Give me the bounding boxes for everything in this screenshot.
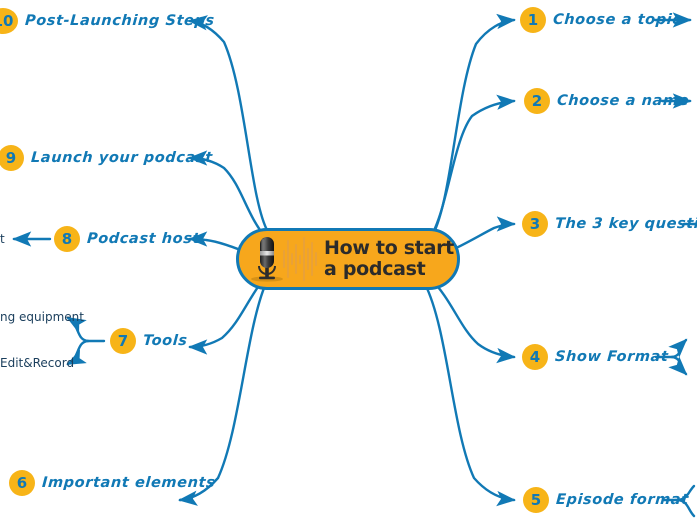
center-title: How to start a podcast (324, 238, 454, 280)
branch-10-badge: 10 (0, 8, 18, 34)
branch-2-badge: 2 (524, 88, 550, 114)
curve-to-branch-7 (190, 277, 265, 347)
branch-8-badge: 8 (54, 226, 80, 252)
branch-3[interactable]: 3 The 3 key questions (522, 211, 697, 237)
branch-7-badge: 7 (110, 328, 136, 354)
branch-1-badge: 1 (520, 7, 546, 33)
branch-6[interactable]: 6 Important elements (9, 470, 215, 496)
branch-5-label: Episode format (555, 492, 689, 508)
center-title-line-1: How to start (324, 238, 454, 259)
sub-item-edit-record[interactable]: Edit&Record (0, 356, 74, 370)
branch-3-label: The 3 key questions (554, 216, 697, 232)
branch-6-label: Important elements (41, 475, 215, 491)
branch-7[interactable]: 7 Tools (110, 328, 188, 354)
curve-to-branch-6 (180, 283, 266, 500)
branch-4[interactable]: 4 Show Format (522, 344, 669, 370)
branch-1-label: Choose a topic (552, 12, 682, 28)
branch-2-label: Choose a name (556, 93, 689, 109)
branch-9-badge: 9 (0, 145, 24, 171)
mindmap-canvas: How to start a podcast 1 Choose a topic … (0, 0, 697, 520)
branch-10-label: Post-Launching Steps (24, 13, 215, 29)
branch-7-label: Tools (142, 333, 188, 349)
branch-4-badge: 4 (522, 344, 548, 370)
branch-1[interactable]: 1 Choose a topic (520, 7, 681, 33)
center-title-line-2: a podcast (324, 259, 454, 280)
sub-item-branch-8-clipped[interactable]: t (0, 232, 5, 246)
fork-lower-branch-4 (672, 357, 686, 374)
branch-5[interactable]: 5 Episode format (523, 487, 689, 513)
branch-10[interactable]: 10 Post-Launching Steps (0, 8, 215, 34)
curve-to-branch-2 (427, 101, 514, 243)
branch-3-badge: 3 (522, 211, 548, 237)
branch-2[interactable]: 2 Choose a name (524, 88, 689, 114)
curve-to-branch-5 (425, 284, 514, 500)
branch-8[interactable]: 8 Podcast host (54, 226, 200, 252)
microphone-waveform-icon (248, 232, 322, 286)
fork-upper-branch-4 (672, 340, 686, 357)
center-node[interactable]: How to start a podcast (236, 228, 460, 290)
branch-9[interactable]: 9 Launch your podcast (0, 145, 213, 171)
branch-4-label: Show Format (554, 349, 669, 365)
branch-9-label: Launch your podcast (30, 150, 213, 166)
branch-8-label: Podcast host (86, 231, 200, 247)
curve-to-branch-10 (190, 21, 268, 232)
branch-6-badge: 6 (9, 470, 35, 496)
branch-5-badge: 5 (523, 487, 549, 513)
sub-item-recording-equipment[interactable]: ng equipment (0, 310, 84, 324)
